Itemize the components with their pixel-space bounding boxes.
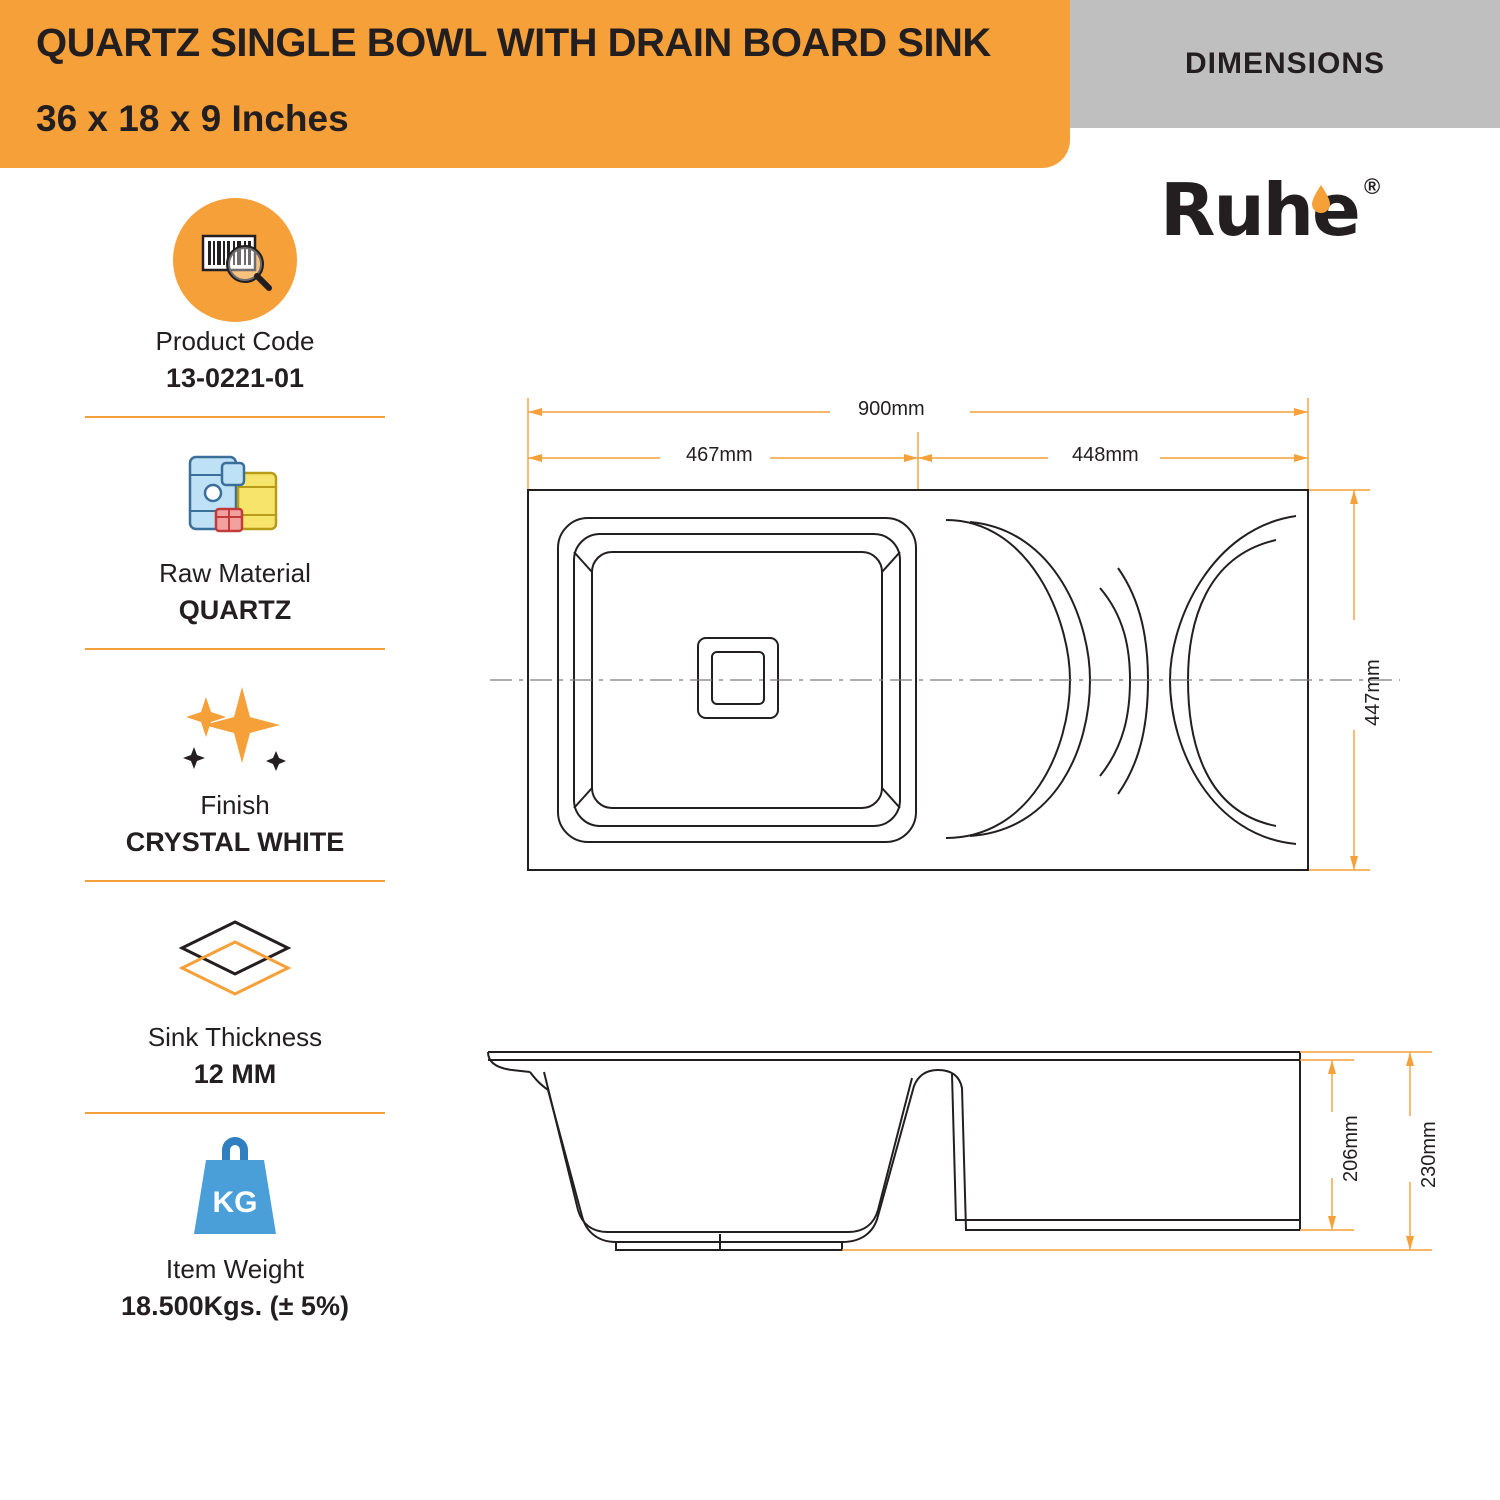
sheet-thickness-icon [85, 896, 385, 1016]
spec-list: Product Code 13-0221-01 [85, 200, 385, 1322]
spec-label: Finish [85, 790, 385, 821]
spec-sink-thickness: Sink Thickness 12 MM [85, 896, 385, 1090]
dim-overall-height: 230mm [1418, 1121, 1441, 1188]
dim-overall-width: 900mm [858, 398, 925, 421]
spec-label: Item Weight [85, 1254, 385, 1285]
spec-label: Sink Thickness [85, 1022, 385, 1053]
dim-bowl-width: 467mm [686, 444, 753, 467]
brand-logo: Ruhe ® [1160, 168, 1420, 258]
page-subtitle: 36 x 18 x 9 Inches [36, 98, 1046, 140]
top-view-drawing: 900mm 467mm 448mm 447mm [470, 370, 1430, 900]
spec-value: QUARTZ [85, 595, 385, 626]
svg-text:KG: KG [213, 1186, 258, 1219]
barcode-magnifier-icon [85, 200, 385, 320]
spec-value: 18.500Kgs. (± 5%) [85, 1291, 385, 1322]
registered-trademark-icon: ® [1364, 174, 1380, 200]
dim-bowl-depth: 206mm [1340, 1115, 1363, 1182]
dim-depth: 447mm [1362, 659, 1385, 726]
divider [85, 1112, 385, 1114]
divider [85, 880, 385, 882]
dim-drainboard-width: 448mm [1072, 444, 1139, 467]
divider [85, 416, 385, 418]
spec-product-code: Product Code 13-0221-01 [85, 200, 385, 394]
sparkle-finish-icon [85, 664, 385, 784]
page-title: QUARTZ SINGLE BOWL WITH DRAIN BOARD SINK [36, 22, 1046, 64]
spec-item-weight: KG Item Weight 18.500Kgs. (± 5%) [85, 1128, 385, 1322]
weight-bag-icon: KG [85, 1128, 385, 1248]
divider [85, 648, 385, 650]
spec-label: Product Code [85, 326, 385, 357]
spec-finish: Finish CRYSTAL WHITE [85, 664, 385, 858]
spec-value: CRYSTAL WHITE [85, 827, 385, 858]
header: QUARTZ SINGLE BOWL WITH DRAIN BOARD SINK… [0, 0, 1500, 168]
side-view-drawing: 206mm 230mm [470, 1020, 1460, 1280]
water-drop-icon [1311, 184, 1331, 214]
spec-raw-material: Raw Material QUARTZ [85, 432, 385, 626]
spec-label: Raw Material [85, 558, 385, 589]
dimensions-label: DIMENSIONS [1070, 0, 1500, 128]
raw-material-drums-icon [85, 432, 385, 552]
spec-value: 12 MM [85, 1059, 385, 1090]
spec-value: 13-0221-01 [85, 363, 385, 394]
